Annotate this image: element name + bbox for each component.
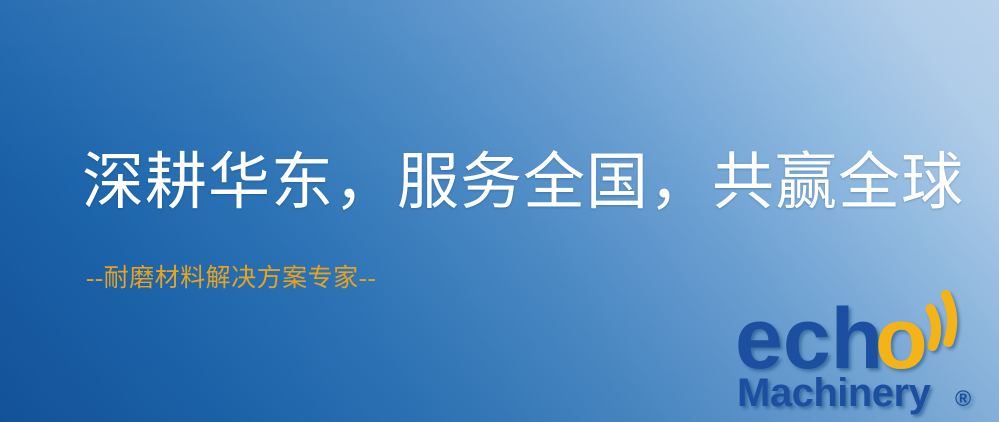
logo-brand-line: Machinery — [737, 371, 932, 415]
registered-mark-icon: ® — [955, 386, 971, 411]
signal-arcs-icon — [927, 294, 955, 345]
banner-subtitle: --耐磨材料解决方案专家-- — [86, 266, 376, 291]
echo-machinery-logo: ech o Machinery ® — [733, 290, 995, 420]
hero-banner: 深耕华东，服务全国，共赢全球 --耐磨材料解决方案专家-- ech o Mach… — [0, 0, 999, 422]
banner-headline: 深耕华东，服务全国，共赢全球 — [82, 152, 964, 214]
